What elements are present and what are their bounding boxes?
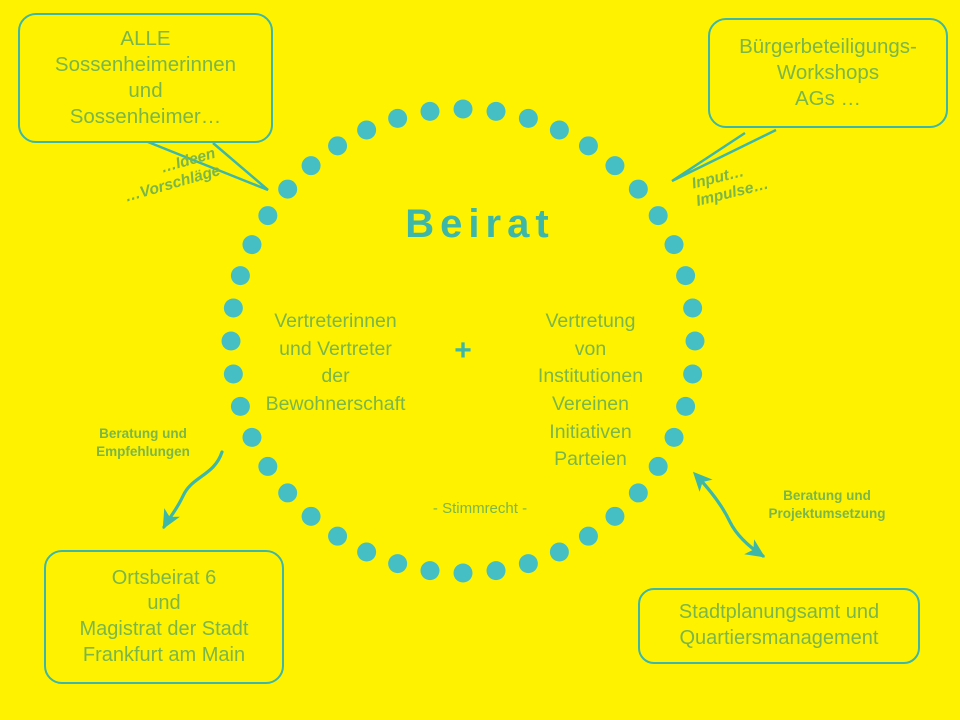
box-ortsbeirat-line-1: Ortsbeirat 6 (56, 566, 272, 592)
box-ortsbeirat-magistrat[interactable]: Ortsbeirat 6 und Magistrat der Stadt Fra… (44, 550, 284, 684)
circle-dot (519, 109, 538, 128)
bubble-workshops[interactable]: Bürgerbeteiligungs- Workshops AGs … (708, 18, 948, 128)
box-ortsbeirat-line-3: Magistrat der Stadt (56, 617, 272, 643)
center-composition: Vertreterinnen und Vertreter der Bewohne… (243, 308, 683, 474)
circle-dot (550, 120, 569, 139)
circle-dot (676, 266, 695, 285)
center-column-institutions: Vertretung von Institutionen Vereinen In… (498, 308, 683, 474)
circle-dot (579, 136, 598, 155)
label-beratung-empfehlungen: Beratung und Empfehlungen (78, 425, 208, 461)
label-beratung-projektumsetzung: Beratung und Projektumsetzung (742, 487, 912, 523)
circle-dot (302, 156, 321, 175)
circle-dot (224, 365, 243, 384)
bubble-citizens-line-1: ALLE (30, 26, 261, 52)
circle-dot (420, 561, 439, 580)
circle-dot (222, 332, 241, 351)
label-beratung-empfehlungen-line-1: Beratung und (78, 425, 208, 443)
box-stadtplanungsamt-quartiersmanagement[interactable]: Stadtplanungsamt und Quartiersmanagement (638, 588, 920, 664)
center-left-line-2: und Vertreter (243, 336, 428, 364)
center-column-residents: Vertreterinnen und Vertreter der Bewohne… (243, 308, 428, 419)
center-right-line-1: Vertretung (498, 308, 683, 336)
center-right-line-2: von (498, 336, 683, 364)
circle-dot (550, 543, 569, 562)
circle-dot (487, 102, 506, 121)
box-stadtplanung-line-2: Quartiersmanagement (650, 626, 908, 652)
bubble-citizens-line-4: Sossenheimer… (30, 104, 261, 130)
circle-dot (231, 266, 250, 285)
label-beratung-empfehlungen-line-2: Empfehlungen (78, 443, 208, 461)
circle-dot (683, 298, 702, 317)
circle-dot (388, 109, 407, 128)
circle-dot (328, 136, 347, 155)
circle-dot (420, 102, 439, 121)
diagram-title: Beirat (0, 202, 960, 247)
circle-dot (454, 564, 473, 583)
circle-dot (357, 120, 376, 139)
bubble-workshops-line-1: Bürgerbeteiligungs- (720, 34, 936, 60)
center-right-line-3: Institutionen (498, 363, 683, 391)
circle-dot (224, 298, 243, 317)
diagram-canvas: ALLE Sossenheimerinnen und Sossenheimer…… (0, 0, 960, 720)
center-left-line-4: Bewohnerschaft (243, 391, 428, 419)
circle-dot (388, 554, 407, 573)
bubble-citizens-line-3: und (30, 78, 261, 104)
circle-dot (683, 365, 702, 384)
bubble-workshops-line-2: Workshops (720, 60, 936, 86)
annotation-ideen-vorschlaege: …Ideen …Vorschläge (118, 145, 223, 207)
circle-dot (357, 543, 376, 562)
circle-dot (686, 332, 705, 351)
box-ortsbeirat-line-4: Frankfurt am Main (56, 643, 272, 669)
label-beratung-projektumsetzung-line-2: Projektumsetzung (742, 505, 912, 523)
circle-dot (278, 180, 297, 199)
center-right-line-6: Parteien (498, 446, 683, 474)
circle-dot (454, 100, 473, 119)
bubble-citizens-line-2: Sossenheimerinnen (30, 52, 261, 78)
box-ortsbeirat-line-2: und (56, 591, 272, 617)
center-left-line-1: Vertreterinnen (243, 308, 428, 336)
circle-dot (487, 561, 506, 580)
label-beratung-projektumsetzung-line-1: Beratung und (742, 487, 912, 505)
center-right-line-5: Initiativen (498, 419, 683, 447)
circle-dot (519, 554, 538, 573)
center-right-line-4: Vereinen (498, 391, 683, 419)
center-left-line-3: der (243, 363, 428, 391)
bubble-citizens[interactable]: ALLE Sossenheimerinnen und Sossenheimer… (18, 13, 273, 143)
bubble-workshops-line-3: AGs … (720, 86, 936, 112)
circle-dot (579, 527, 598, 546)
circle-dot (328, 527, 347, 546)
box-stadtplanung-line-1: Stadtplanungsamt und (650, 600, 908, 626)
circle-dot (605, 156, 624, 175)
plus-icon: + (454, 308, 472, 366)
circle-dot (629, 180, 648, 199)
